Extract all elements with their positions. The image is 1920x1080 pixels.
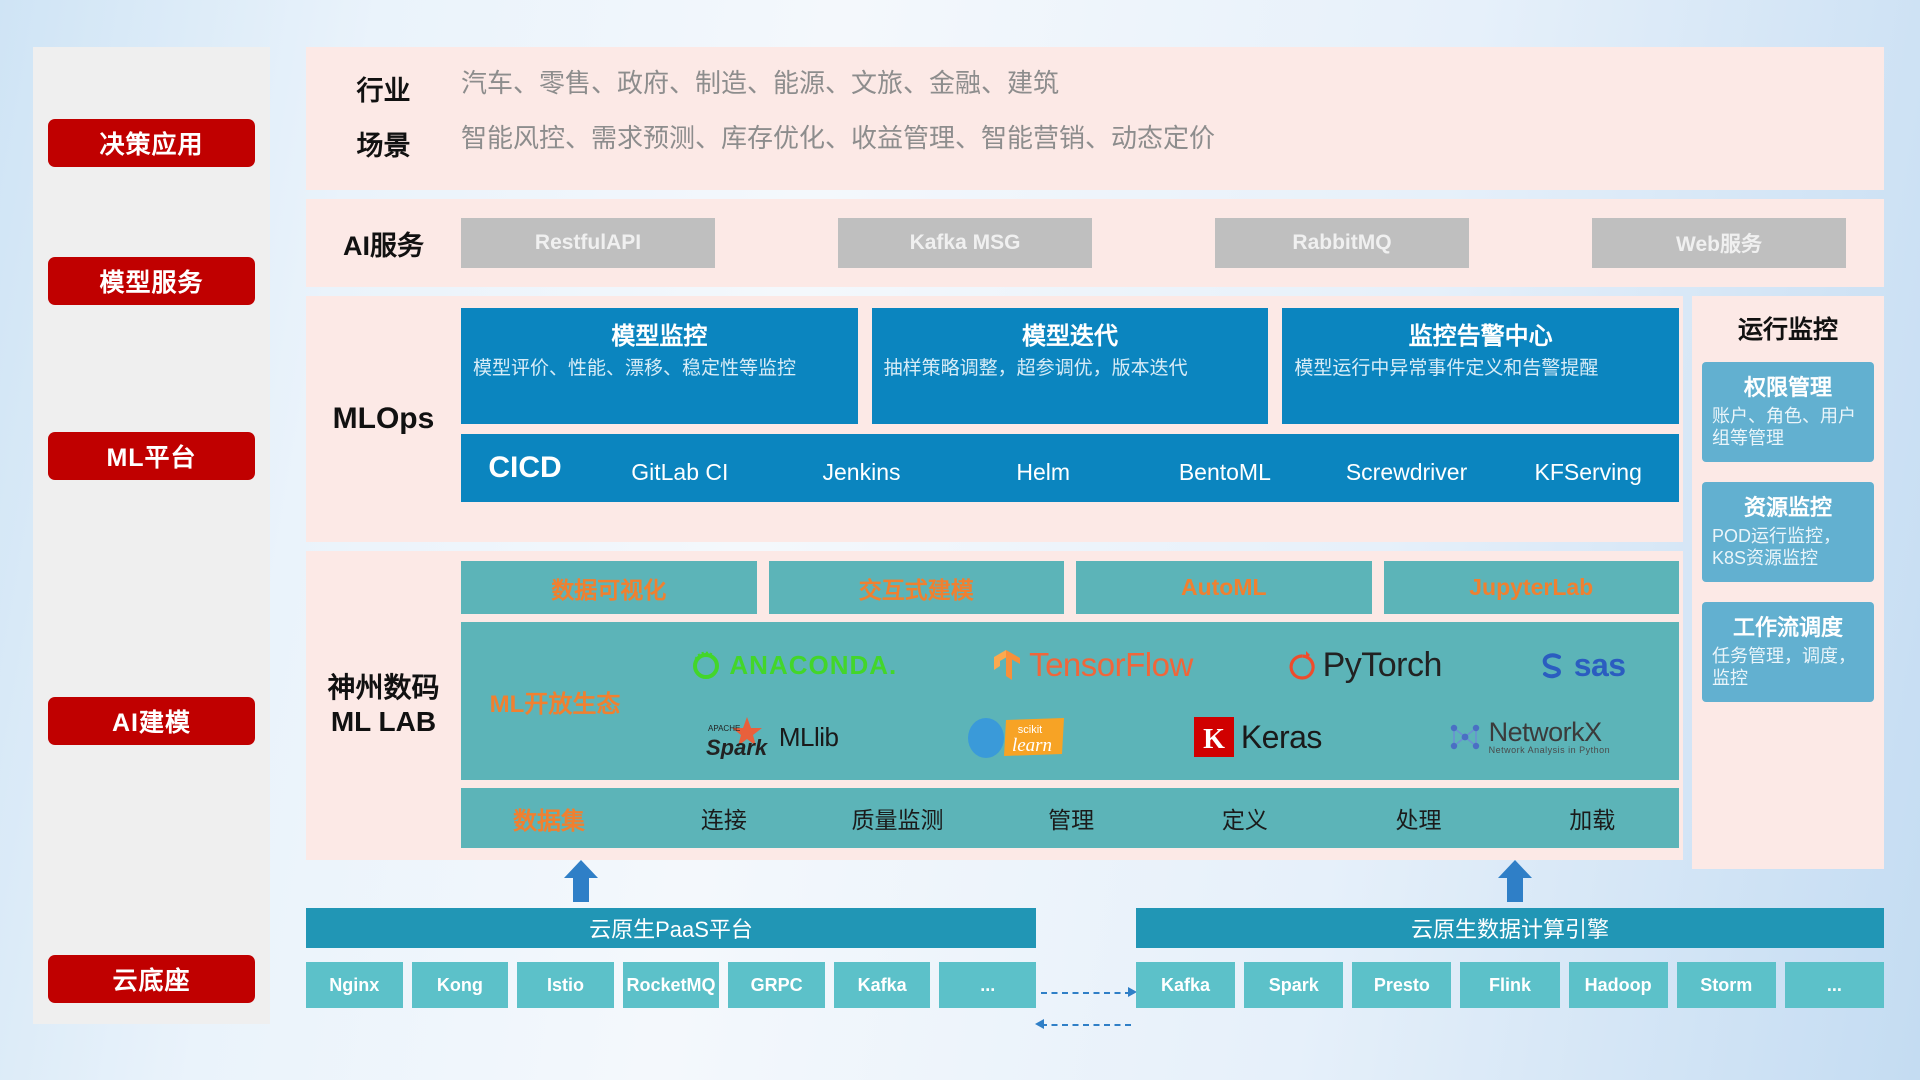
engine-chip-more[interactable]: ...: [1785, 962, 1884, 1008]
rail-chip-cloud-base[interactable]: 云底座: [48, 955, 255, 1003]
service-chip-rabbitmq[interactable]: RabbitMQ: [1215, 218, 1469, 268]
scenario-value: 智能风控、需求预测、库存优化、收益管理、智能营销、动态定价: [461, 124, 1215, 153]
svg-text:Spark: Spark: [706, 735, 769, 759]
paas-chip-nginx[interactable]: Nginx: [306, 962, 403, 1008]
industry-value: 汽车、零售、政府、制造、能源、文旅、金融、建筑: [461, 69, 1059, 98]
paas-group: 云原生PaaS平台 Nginx Kong Istio RocketMQ GRPC…: [306, 908, 1036, 1008]
engine-chip-presto[interactable]: Presto: [1352, 962, 1451, 1008]
svg-text:APACHE: APACHE: [708, 724, 740, 733]
mlops-band: MLOps 模型监控 模型评价、性能、漂移、稳定性等监控 模型迭代 抽样策略调整…: [306, 296, 1683, 542]
monitoring-title: 运行监控: [1702, 310, 1874, 346]
scenario-row: 场景 智能风控、需求预测、库存优化、收益管理、智能营销、动态定价: [306, 124, 1884, 163]
tensorflow-logo: TensorFlow: [992, 646, 1193, 684]
anaconda-wordmark: ANACONDA.: [729, 650, 897, 681]
paas-chip-istio[interactable]: Istio: [517, 962, 614, 1008]
decision-band: 行业 汽车、零售、政府、制造、能源、文旅、金融、建筑 场景 智能风控、需求预测、…: [306, 47, 1884, 190]
monitor-card-title: 资源监控: [1712, 490, 1864, 522]
paas-chip-kafka[interactable]: Kafka: [834, 962, 931, 1008]
engine-chip-flink[interactable]: Flink: [1460, 962, 1559, 1008]
monitor-card-permissions[interactable]: 权限管理 账户、角色、用户组等管理: [1702, 362, 1874, 462]
modeling-band: 神州数码 ML LAB 数据可视化 交互式建模 AutoML JupyterLa…: [306, 551, 1683, 860]
engine-chip-storm[interactable]: Storm: [1677, 962, 1776, 1008]
networkx-wordmark: NetworkX: [1489, 719, 1611, 746]
dataset-item-process[interactable]: 处理: [1332, 801, 1506, 835]
industry-label: 行业: [306, 69, 461, 108]
networkx-tagline: Network Analysis in Python: [1489, 746, 1611, 755]
networkx-icon: [1448, 720, 1482, 754]
mlops-card-title: 监控告警中心: [1294, 316, 1667, 351]
ml-lab-label-line1: 神州数码: [327, 672, 439, 703]
sas-wordmark: sas: [1574, 647, 1626, 684]
ai-service-chip-list: RestfulAPI Kafka MSG RabbitMQ Web服务: [461, 218, 1884, 268]
tab-automl[interactable]: AutoML: [1076, 561, 1372, 614]
tab-interactive-modeling[interactable]: 交互式建模: [769, 561, 1065, 614]
cloud-base-section: 云原生PaaS平台 Nginx Kong Istio RocketMQ GRPC…: [306, 892, 1884, 1032]
mlops-card-model-monitor[interactable]: 模型监控 模型评价、性能、漂移、稳定性等监控: [461, 308, 858, 424]
pytorch-logo: PyTorch: [1288, 646, 1442, 685]
keras-icon: K: [1194, 717, 1234, 757]
monitor-card-desc: 账户、角色、用户组等管理: [1712, 406, 1864, 450]
cicd-item-bentoml[interactable]: BentoML: [1134, 453, 1316, 484]
engine-chip-hadoop[interactable]: Hadoop: [1569, 962, 1668, 1008]
anaconda-logo: ANACONDA.: [690, 649, 897, 681]
mlops-card-list: 模型监控 模型评价、性能、漂移、稳定性等监控 模型迭代 抽样策略调整，超参调优，…: [461, 308, 1679, 424]
paas-chip-list: Nginx Kong Istio RocketMQ GRPC Kafka ...: [306, 962, 1036, 1008]
sas-logo: sas: [1537, 647, 1626, 684]
keras-wordmark: Keras: [1241, 719, 1322, 756]
mlops-label: MLOps: [306, 308, 461, 530]
ecosystem-logo-row-2: APACHE Spark MLlib scikit: [643, 703, 1673, 771]
dashed-link-top: [1041, 992, 1131, 994]
ecosystem-logo-row-1: ANACONDA. TensorFlow: [643, 631, 1673, 699]
engine-chip-kafka[interactable]: Kafka: [1136, 962, 1235, 1008]
rail-chip-model-service[interactable]: 模型服务: [48, 257, 255, 305]
monitor-card-desc: POD运行监控，K8S资源监控: [1712, 526, 1864, 570]
rail-chip-decision[interactable]: 决策应用: [48, 119, 255, 167]
arrow-up-paas: [564, 860, 598, 902]
tensorflow-wordmark: TensorFlow: [1029, 646, 1193, 684]
cicd-bar: CICD GitLab CI Jenkins Helm BentoML Scre…: [461, 434, 1679, 502]
mllib-wordmark: MLlib: [779, 722, 839, 753]
cicd-item-gitlab-ci[interactable]: GitLab CI: [589, 453, 771, 484]
dashed-link-bottom: [1041, 1024, 1131, 1026]
mlops-card-alert-center[interactable]: 监控告警中心 模型运行中异常事件定义和告警提醒: [1282, 308, 1679, 424]
dataset-item-manage[interactable]: 管理: [984, 801, 1158, 835]
paas-chip-rocketmq[interactable]: RocketMQ: [623, 962, 720, 1008]
mid-left-column: MLOps 模型监控 模型评价、性能、漂移、稳定性等监控 模型迭代 抽样策略调整…: [306, 296, 1683, 869]
ml-lab-label: 神州数码 ML LAB: [306, 561, 461, 848]
dataset-label: 数据集: [461, 801, 637, 836]
svg-text:learn: learn: [1012, 735, 1052, 756]
paas-title: 云原生PaaS平台: [306, 908, 1036, 948]
rail-chip-ml-platform[interactable]: ML平台: [48, 432, 255, 480]
ai-service-label: AI服务: [306, 224, 461, 263]
cicd-item-list: GitLab CI Jenkins Helm BentoML Screwdriv…: [589, 453, 1679, 484]
data-engine-title: 云原生数据计算引擎: [1136, 908, 1884, 948]
paas-chip-grpc[interactable]: GRPC: [728, 962, 825, 1008]
monitoring-rail: 运行监控 权限管理 账户、角色、用户组等管理 资源监控 POD运行监控，K8S资…: [1692, 296, 1884, 869]
dataset-item-load[interactable]: 加载: [1505, 801, 1679, 835]
mlops-card-title: 模型监控: [473, 316, 846, 351]
modeling-tab-list: 数据可视化 交互式建模 AutoML JupyterLab: [461, 561, 1679, 614]
dashed-arrowhead-left: [1035, 1019, 1044, 1029]
service-chip-web[interactable]: Web服务: [1592, 218, 1846, 268]
keras-logo: K Keras: [1194, 717, 1322, 757]
paas-chip-more[interactable]: ...: [939, 962, 1036, 1008]
dataset-item-connect[interactable]: 连接: [637, 801, 811, 835]
cicd-title: CICD: [461, 451, 589, 485]
scikit-learn-logo: scikit learn: [964, 714, 1068, 760]
mlops-card-model-iteration[interactable]: 模型迭代 抽样策略调整，超参调优，版本迭代: [872, 308, 1269, 424]
mlops-card-desc: 抽样策略调整，超参调优，版本迭代: [884, 357, 1257, 381]
paas-chip-kong[interactable]: Kong: [412, 962, 509, 1008]
ai-service-band: AI服务 RestfulAPI Kafka MSG RabbitMQ Web服务: [306, 199, 1884, 287]
monitor-card-workflow[interactable]: 工作流调度 任务管理，调度，监控: [1702, 602, 1874, 702]
cicd-item-jenkins[interactable]: Jenkins: [771, 453, 953, 484]
service-chip-restfulapi[interactable]: RestfulAPI: [461, 218, 715, 268]
dataset-row: 数据集 连接 质量监测 管理 定义 处理 加载: [461, 788, 1679, 848]
cicd-item-helm[interactable]: Helm: [952, 453, 1134, 484]
mlops-card-title: 模型迭代: [884, 316, 1257, 351]
cicd-item-screwdriver[interactable]: Screwdriver: [1316, 453, 1498, 484]
networkx-logo: NetworkX Network Analysis in Python: [1448, 719, 1611, 755]
tab-jupyterlab[interactable]: JupyterLab: [1384, 561, 1680, 614]
spark-icon: APACHE Spark: [706, 715, 772, 759]
industry-row: 行业 汽车、零售、政府、制造、能源、文旅、金融、建筑: [306, 69, 1884, 108]
ml-ecosystem-row: ML开放生态 ANACONDA.: [461, 622, 1679, 780]
mid-section: MLOps 模型监控 模型评价、性能、漂移、稳定性等监控 模型迭代 抽样策略调整…: [306, 296, 1884, 869]
mlops-card-desc: 模型运行中异常事件定义和告警提醒: [1294, 357, 1667, 381]
cicd-item-kfserving[interactable]: KFServing: [1497, 453, 1679, 484]
svg-text:K: K: [1203, 724, 1225, 755]
pytorch-icon: [1288, 649, 1316, 681]
ml-lab-label-line2: ML LAB: [331, 706, 436, 737]
layer-rail: 决策应用 模型服务 ML平台 AI建模 云底座: [33, 47, 270, 1024]
spark-mllib-logo: APACHE Spark MLlib: [706, 715, 839, 759]
data-engine-chip-list: Kafka Spark Presto Flink Hadoop Storm ..…: [1136, 962, 1884, 1008]
engine-chip-spark[interactable]: Spark: [1244, 962, 1343, 1008]
ml-ecosystem-label: ML开放生态: [467, 684, 643, 719]
scikit-learn-icon: scikit learn: [964, 714, 1068, 760]
architecture-main: 行业 汽车、零售、政府、制造、能源、文旅、金融、建筑 场景 智能风控、需求预测、…: [306, 47, 1884, 869]
monitor-card-title: 工作流调度: [1712, 610, 1864, 642]
arrow-up-data-engine: [1498, 860, 1532, 902]
dataset-item-define[interactable]: 定义: [1158, 801, 1332, 835]
dataset-item-list: 连接 质量监测 管理 定义 处理 加载: [637, 801, 1679, 835]
data-engine-group: 云原生数据计算引擎 Kafka Spark Presto Flink Hadoo…: [1136, 908, 1884, 1008]
scenario-label: 场景: [306, 124, 461, 163]
tab-data-visualization[interactable]: 数据可视化: [461, 561, 757, 614]
service-chip-kafka-msg[interactable]: Kafka MSG: [838, 218, 1092, 268]
monitor-card-desc: 任务管理，调度，监控: [1712, 646, 1864, 690]
anaconda-icon: [690, 649, 722, 681]
monitor-card-title: 权限管理: [1712, 370, 1864, 402]
pytorch-wordmark: PyTorch: [1323, 646, 1442, 685]
rail-chip-ai-modeling[interactable]: AI建模: [48, 697, 255, 745]
mlops-card-desc: 模型评价、性能、漂移、稳定性等监控: [473, 357, 846, 381]
monitor-card-resources[interactable]: 资源监控 POD运行监控，K8S资源监控: [1702, 482, 1874, 582]
dataset-item-quality[interactable]: 质量监测: [811, 801, 985, 835]
sas-icon: [1537, 650, 1567, 680]
tensorflow-icon: [992, 648, 1022, 682]
